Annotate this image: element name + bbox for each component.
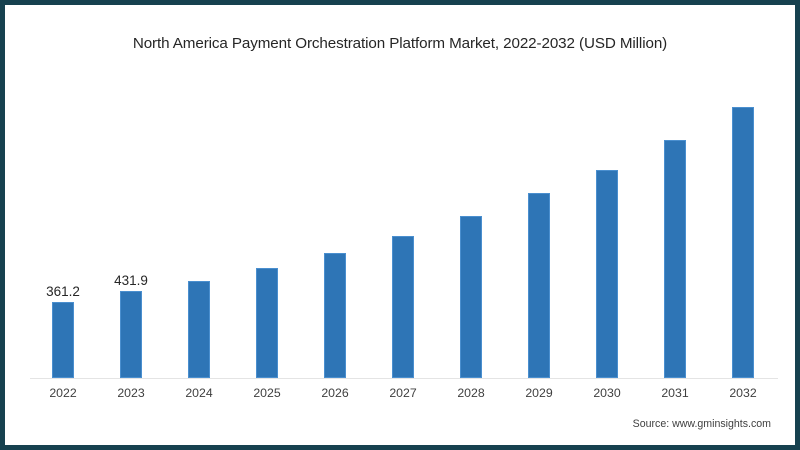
source-note: Source: www.gminsights.com	[633, 418, 771, 430]
bar-group: 2028	[438, 5, 504, 445]
bar-group: 361.2 2022	[30, 5, 96, 445]
x-tick-label: 2031	[661, 386, 688, 400]
bar-value-label: 431.9	[114, 273, 148, 288]
bar[interactable]	[664, 140, 686, 378]
bar[interactable]	[120, 291, 142, 378]
x-tick-label: 2025	[253, 386, 280, 400]
x-tick-label: 2028	[457, 386, 484, 400]
chart-figure: North America Payment Orchestration Plat…	[0, 0, 800, 450]
bar-group: 2025	[234, 5, 300, 445]
x-tick-label: 2032	[729, 386, 756, 400]
x-tick-label: 2029	[525, 386, 552, 400]
bar-group: 2024	[166, 5, 232, 445]
bar[interactable]	[324, 253, 346, 378]
x-tick-label: 2022	[49, 386, 76, 400]
x-tick-label: 2026	[321, 386, 348, 400]
bar[interactable]	[392, 236, 414, 378]
bar-group: 2031	[642, 5, 708, 445]
bar[interactable]	[256, 268, 278, 378]
x-tick-label: 2030	[593, 386, 620, 400]
bar-group: 2032	[710, 5, 776, 445]
x-tick-label: 2023	[117, 386, 144, 400]
chart-canvas: North America Payment Orchestration Plat…	[5, 5, 795, 445]
bar-value-label: 361.2	[46, 284, 80, 299]
x-tick-label: 2024	[185, 386, 212, 400]
bar[interactable]	[732, 107, 754, 378]
bar[interactable]	[188, 281, 210, 378]
bar[interactable]	[596, 170, 618, 378]
bar-group: 2029	[506, 5, 572, 445]
bar[interactable]	[52, 302, 74, 378]
bar-group: 431.9 2023	[98, 5, 164, 445]
bar-group: 2030	[574, 5, 640, 445]
bar[interactable]	[460, 216, 482, 378]
bar-group: 2026	[302, 5, 368, 445]
x-tick-label: 2027	[389, 386, 416, 400]
bar-group: 2027	[370, 5, 436, 445]
plot-area: 361.2 2022 431.9 2023 2024 2025	[20, 5, 785, 445]
bar[interactable]	[528, 193, 550, 378]
